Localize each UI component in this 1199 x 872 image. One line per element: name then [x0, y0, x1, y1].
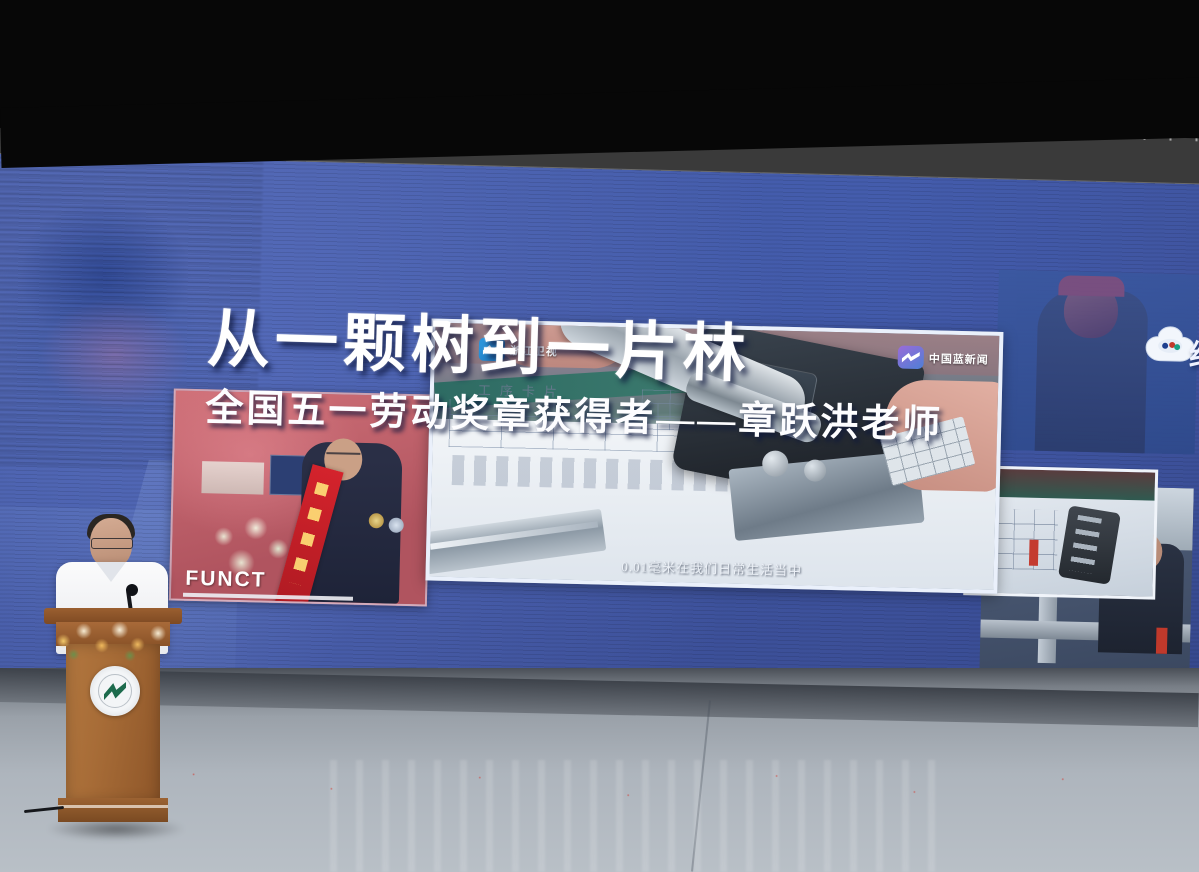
- institution-crest-icon: [90, 666, 140, 716]
- speaker-glasses-icon: [91, 538, 133, 549]
- photo-person-glasses: [326, 452, 360, 463]
- hall-ceiling: [0, 0, 1199, 128]
- floor-light-spots: [130, 760, 1190, 840]
- slide-headline-block: 从一颗树到一片林 全国五一劳动奖章获得者——章跃洪老师: [205, 309, 946, 448]
- podium-flower-arrangement: [48, 612, 176, 668]
- workshop-red-item: [1156, 628, 1168, 654]
- worker-cap: [1058, 275, 1124, 297]
- podium-base: [58, 798, 168, 822]
- inspection-metal-part: [1058, 505, 1121, 584]
- corner-logo-text: 绍: [1188, 330, 1199, 375]
- microphone-capsule-icon: [126, 584, 138, 596]
- photo-banner-text: FUNCT: [185, 567, 267, 593]
- inspection-red-part: [1029, 540, 1039, 566]
- presentation-photo: 从一颗树到一片林 全国五一劳动奖章获得者——章跃洪老师 绍: [0, 0, 1199, 872]
- led-video-wall: 从一颗树到一片林 全国五一劳动奖章获得者——章跃洪老师 绍: [0, 126, 1199, 715]
- photo-display-panel: [201, 461, 264, 494]
